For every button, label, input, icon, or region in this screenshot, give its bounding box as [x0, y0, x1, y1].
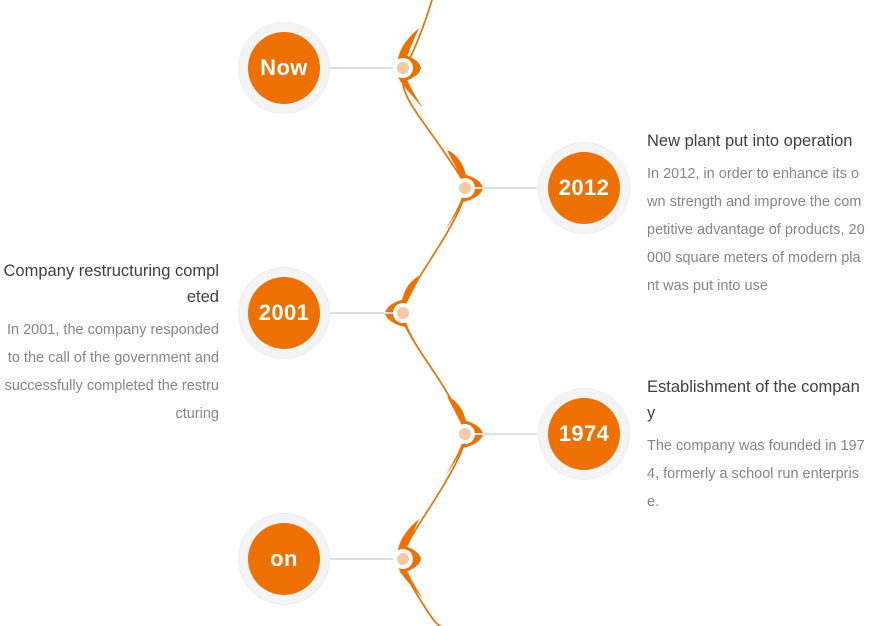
- timeline-stage: Now 2012 2001 1974 on New plant put into…: [0, 0, 888, 626]
- milestone-circle-2012[interactable]: 2012: [538, 142, 630, 234]
- milestone-label-2001: 2001: [259, 302, 310, 324]
- event-title-2001: Company restructuring completed: [0, 258, 219, 310]
- vine-leaf-bottom: [397, 519, 423, 599]
- node-dot-2012-inner: [459, 182, 471, 194]
- vine-leaf-bottom-tip: [400, 545, 421, 573]
- vine-stem-segment-top: [403, 0, 465, 188]
- event-title-1974: Establishment of the company: [647, 374, 868, 426]
- milestone-circle-1974[interactable]: 1974: [538, 388, 630, 480]
- event-desc-1974: The company was founded in 1974, formerl…: [647, 432, 868, 516]
- node-dot-2001-inner: [397, 307, 409, 319]
- node-dot-2012[interactable]: [455, 178, 475, 198]
- milestone-core-now: Now: [248, 32, 320, 104]
- milestone-core-1974: 1974: [548, 398, 620, 470]
- node-dot-now-inner: [397, 62, 409, 74]
- vine-leaf-2012: [445, 150, 467, 230]
- connector-bottom: [330, 558, 393, 560]
- node-dot-1974-inner: [459, 428, 471, 440]
- event-desc-2001: In 2001, the company responded to the ca…: [0, 316, 219, 428]
- connector-1974: [475, 433, 537, 435]
- milestone-circle-bottom[interactable]: on: [238, 513, 330, 605]
- event-title-2012: New plant put into operation: [647, 128, 868, 154]
- milestone-core-bottom: on: [248, 523, 320, 595]
- vine-leaf-2001: [401, 275, 423, 355]
- milestone-label-1974: 1974: [559, 423, 610, 445]
- milestone-circle-now[interactable]: Now: [238, 22, 330, 114]
- connector-now: [330, 67, 393, 69]
- vine-leaf-1974: [445, 396, 467, 476]
- vine-leaf-now: [397, 28, 423, 108]
- milestone-label-now: Now: [260, 57, 308, 79]
- milestone-circle-2001[interactable]: 2001: [238, 267, 330, 359]
- milestone-core-2012: 2012: [548, 152, 620, 224]
- vine-leaf-now-tip: [400, 54, 421, 82]
- node-dot-now[interactable]: [393, 58, 413, 78]
- node-dot-bottom-inner: [397, 553, 409, 565]
- node-dot-2001[interactable]: [393, 303, 413, 323]
- vine-stem-segment-1974-bottom: [403, 434, 465, 559]
- vine-stem-segment-2001-1974: [403, 313, 465, 434]
- vine-stem-segment-bottom: [403, 559, 440, 626]
- vine-stem-segment-2012-2001: [403, 188, 465, 313]
- event-text-2001: Company restructuring completed In 2001,…: [0, 258, 219, 428]
- event-desc-2012: In 2012, in order to enhance its own str…: [647, 160, 868, 300]
- milestone-label-bottom: on: [270, 548, 298, 570]
- milestone-label-2012: 2012: [559, 177, 610, 199]
- event-text-1974: Establishment of the company The company…: [647, 374, 868, 516]
- connector-2012: [475, 187, 537, 189]
- connector-2001: [330, 312, 393, 314]
- event-text-2012: New plant put into operation In 2012, in…: [647, 128, 868, 300]
- node-dot-bottom[interactable]: [393, 549, 413, 569]
- milestone-core-2001: 2001: [248, 277, 320, 349]
- node-dot-1974[interactable]: [455, 424, 475, 444]
